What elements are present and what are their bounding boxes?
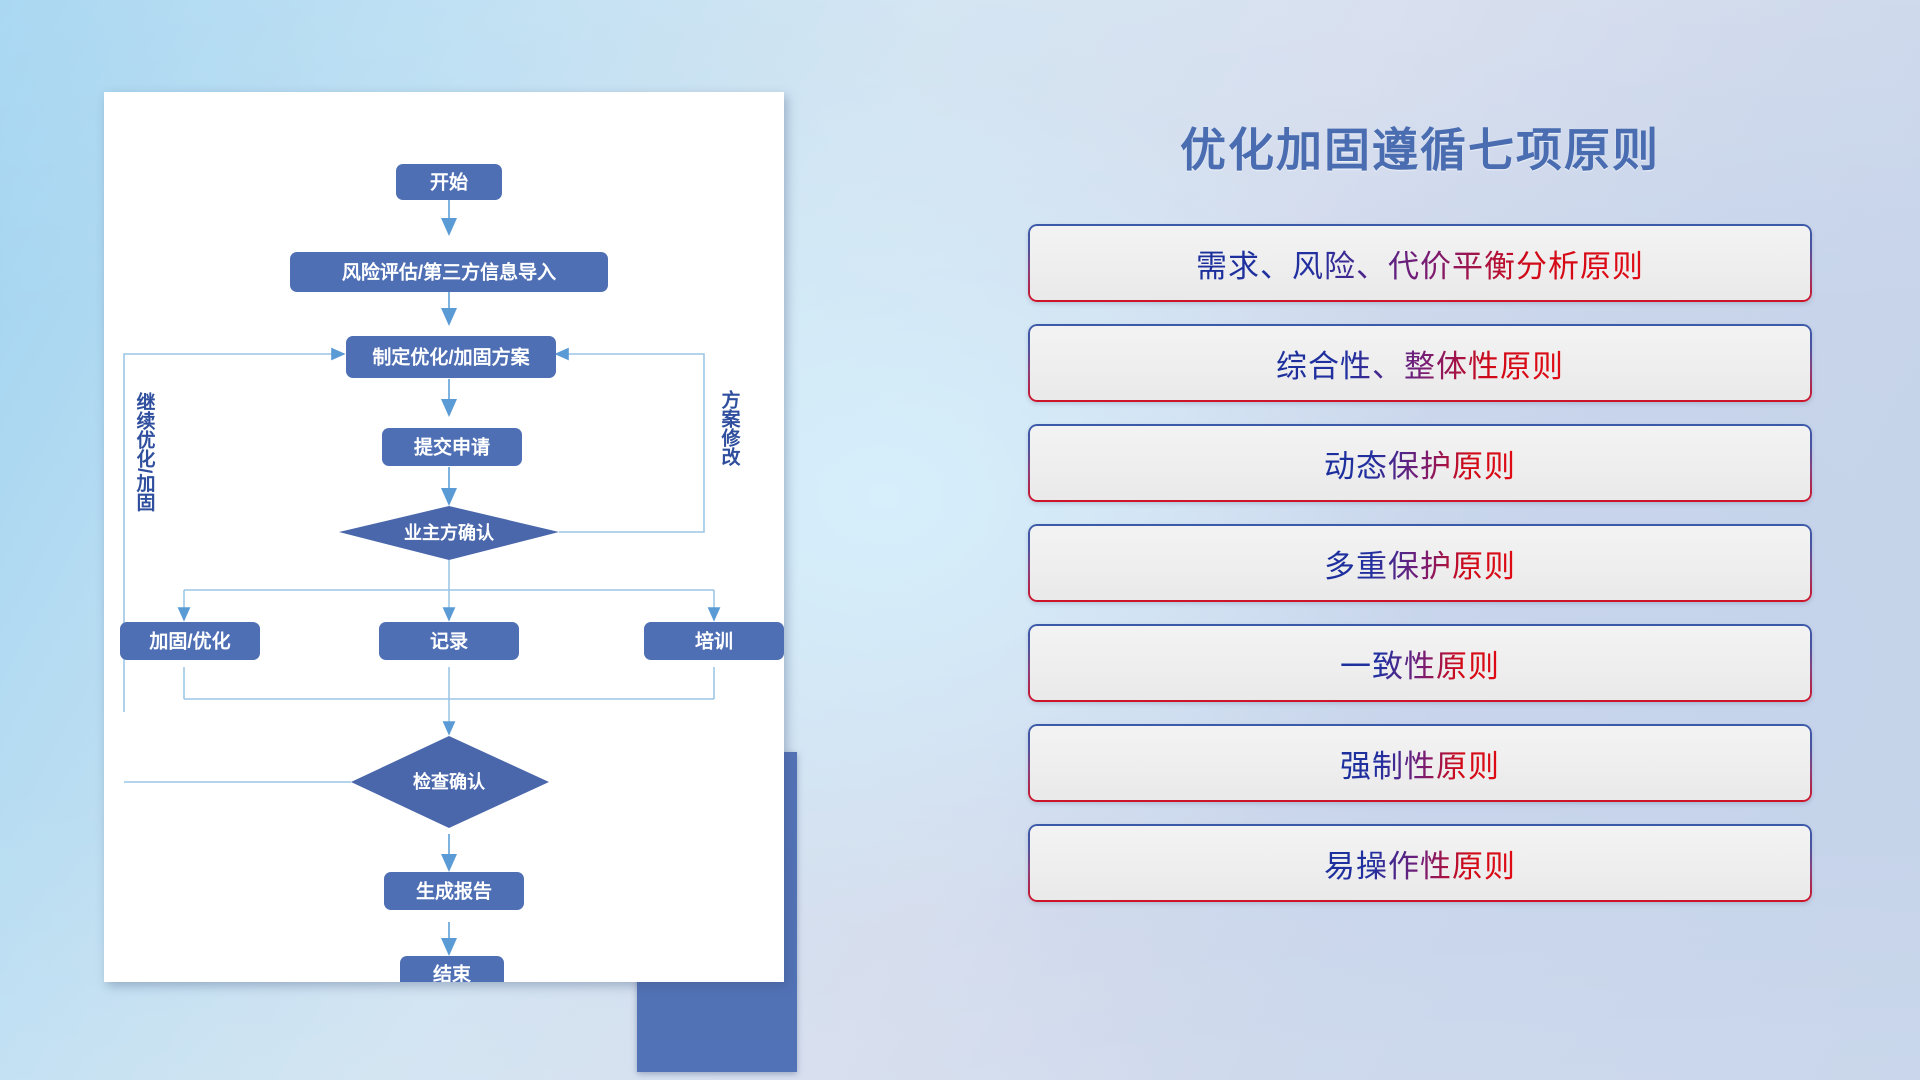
flow-node-train[interactable]: 培训 xyxy=(695,630,733,653)
principle-item-3[interactable]: 动态保护原则 xyxy=(1028,424,1812,502)
principle-item-2[interactable]: 综合性、整体性原则 xyxy=(1028,324,1812,402)
flow-edge-label-left-loop: 继续优化/加固 xyxy=(134,391,157,512)
principle-label: 需求、风险、代价平衡分析原则 xyxy=(1196,241,1644,286)
principle-item-4[interactable]: 多重保护原则 xyxy=(1028,524,1812,602)
principle-item-6[interactable]: 强制性原则 xyxy=(1028,724,1812,802)
flow-node-reinforce[interactable]: 加固/优化 xyxy=(148,630,230,653)
principle-label: 一致性原则 xyxy=(1340,641,1500,686)
principle-item-7[interactable]: 易操作性原则 xyxy=(1028,824,1812,902)
principles-panel: 优化加固遵循七项原则 需求、风险、代价平衡分析原则 综合性、整体性原则 动态保护… xyxy=(1000,80,1840,1020)
flow-node-check[interactable]: 检查确认 xyxy=(413,771,486,792)
principle-item-1[interactable]: 需求、风险、代价平衡分析原则 xyxy=(1028,224,1812,302)
principle-item-5[interactable]: 一致性原则 xyxy=(1028,624,1812,702)
flow-node-report[interactable]: 生成报告 xyxy=(416,880,492,903)
principle-label: 强制性原则 xyxy=(1340,741,1500,786)
flowchart-panel: 开始 风险评估/第三方信息导入 制定优化/加固方案 提交申请 业主方确认 加固/… xyxy=(104,92,794,972)
flowchart-diagram: 开始 风险评估/第三方信息导入 制定优化/加固方案 提交申请 业主方确认 加固/… xyxy=(104,92,784,982)
flow-node-risk[interactable]: 风险评估/第三方信息导入 xyxy=(342,261,556,284)
flow-edge-label-right-loop: 方案修改 xyxy=(719,389,742,467)
flow-node-end[interactable]: 结束 xyxy=(433,963,472,983)
principle-label: 动态保护原则 xyxy=(1324,441,1516,486)
flow-node-owner-confirm[interactable]: 业主方确认 xyxy=(404,522,495,543)
flow-node-start[interactable]: 开始 xyxy=(430,171,468,194)
principle-label: 多重保护原则 xyxy=(1324,541,1516,586)
flow-node-record[interactable]: 记录 xyxy=(430,631,468,653)
principles-title: 优化加固遵循七项原则 xyxy=(1000,114,1840,180)
flowchart-card: 开始 风险评估/第三方信息导入 制定优化/加固方案 提交申请 业主方确认 加固/… xyxy=(104,92,784,982)
flow-node-submit[interactable]: 提交申请 xyxy=(414,436,490,459)
principle-label: 易操作性原则 xyxy=(1324,841,1516,886)
principle-label: 综合性、整体性原则 xyxy=(1276,341,1564,386)
flow-node-plan[interactable]: 制定优化/加固方案 xyxy=(372,346,530,369)
